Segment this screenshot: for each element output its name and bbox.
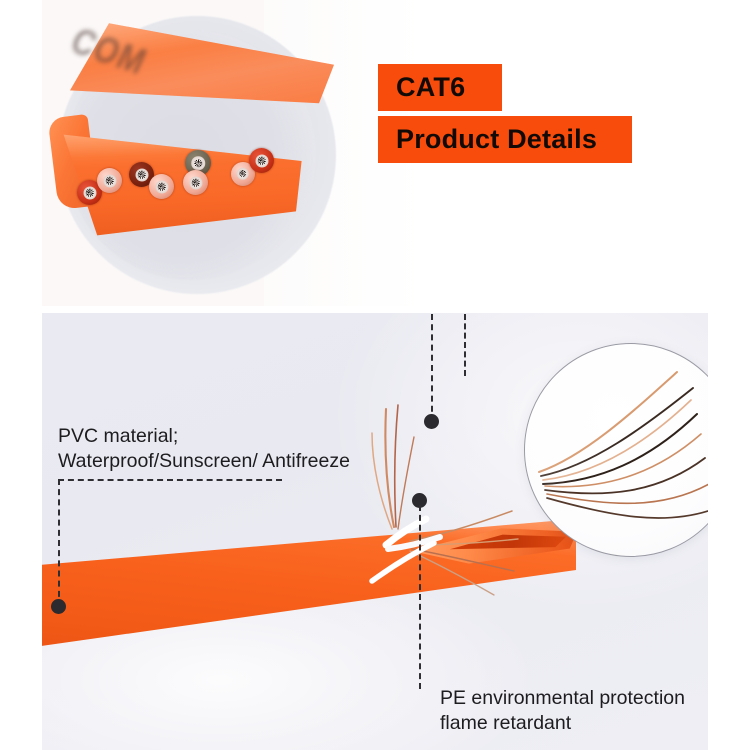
product-detail-image: COM CAT6 Product Details: [0, 0, 750, 750]
banner-product-details-label: Product Details: [396, 124, 597, 155]
strand-leader-line-a: [431, 314, 433, 422]
pe-leader-line: [419, 505, 421, 689]
top-panel: COM CAT6 Product Details: [0, 0, 750, 306]
conductor-6: [183, 170, 208, 195]
callout-pvc-label: PVC material; Waterproof/Sunscreen/ Anti…: [58, 424, 350, 474]
conductor-8: [249, 148, 274, 173]
conductor-4: [149, 174, 174, 199]
banner-cat6: CAT6: [378, 64, 502, 111]
bottom-panel: [42, 313, 708, 750]
pvc-leader-horizontal: [58, 479, 282, 481]
banner-product-details: Product Details: [378, 116, 632, 163]
strand-leader-line-b: [464, 314, 466, 376]
strand-leader-dot-a: [424, 414, 439, 429]
pvc-leader-vertical: [58, 479, 60, 607]
banner-cat6-label: CAT6: [396, 72, 465, 103]
conductor-2: [97, 168, 122, 193]
callout-pe-label: PE environmental protection flame retard…: [440, 686, 685, 736]
pvc-leader-dot: [51, 599, 66, 614]
cable-cross-section-photo: COM: [55, 20, 345, 270]
